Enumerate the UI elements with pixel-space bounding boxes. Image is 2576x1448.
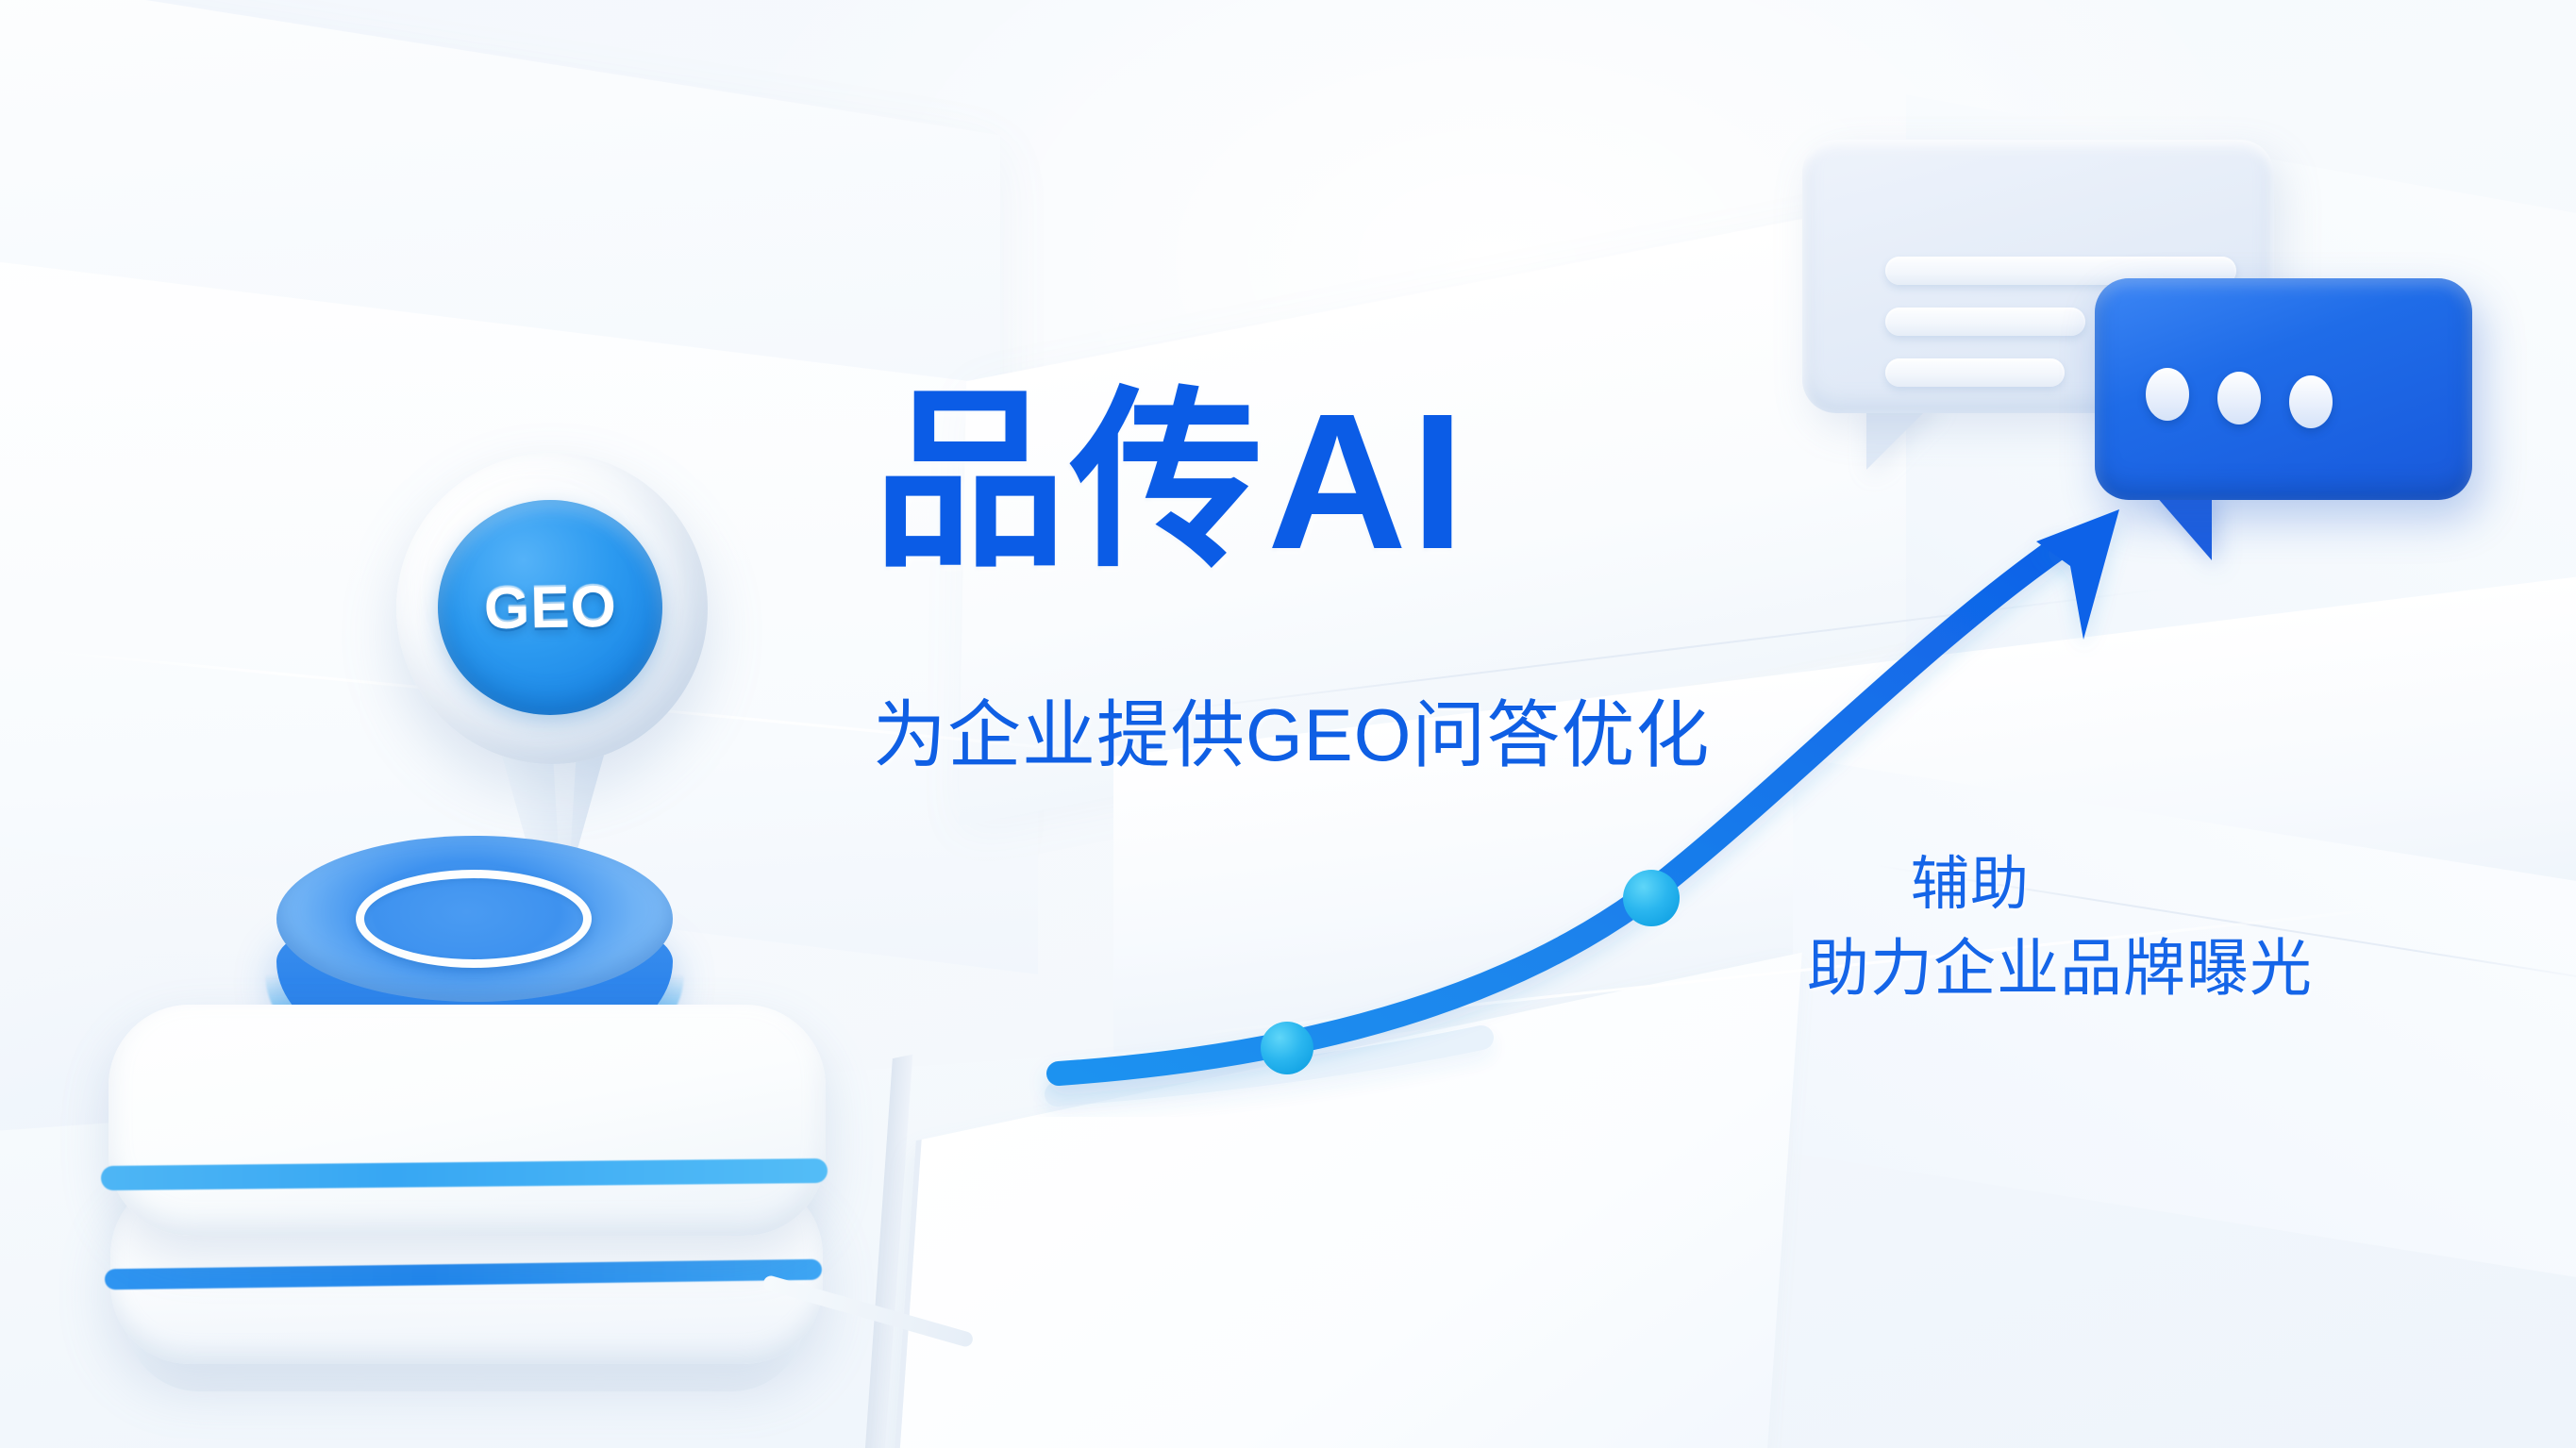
pin-label: GEO	[483, 573, 617, 641]
pedestal-inner-ring	[356, 870, 592, 968]
pedestal-base	[99, 821, 845, 1311]
side-tagline-line1: 辅助	[1911, 854, 2313, 915]
data-point-marker	[1261, 1022, 1313, 1074]
arrowhead-icon	[2036, 509, 2119, 640]
typing-dot-icon	[2217, 372, 2261, 424]
page-subtitle: 为企业提供GEO问答优化	[873, 698, 1710, 772]
pedestal-upper-block	[109, 1005, 826, 1236]
hero-banner: GEO 品传AI 为企业提供GEO问答优化 辅助 助力企业品牌曝光	[0, 0, 2576, 1448]
data-point-marker	[1623, 870, 1680, 926]
chat-bubble-text-line	[1885, 358, 2065, 387]
side-tagline: 辅助 助力企业品牌曝光	[1807, 854, 2313, 1001]
page-title: 品传AI	[873, 385, 1468, 578]
side-tagline-line2: 助力企业品牌曝光	[1807, 936, 2313, 1001]
typing-dot-icon	[2146, 368, 2189, 421]
typing-dot-icon	[2289, 375, 2333, 428]
chat-bubble-text-line	[1885, 308, 2085, 336]
pin-disc: GEO	[438, 500, 662, 715]
